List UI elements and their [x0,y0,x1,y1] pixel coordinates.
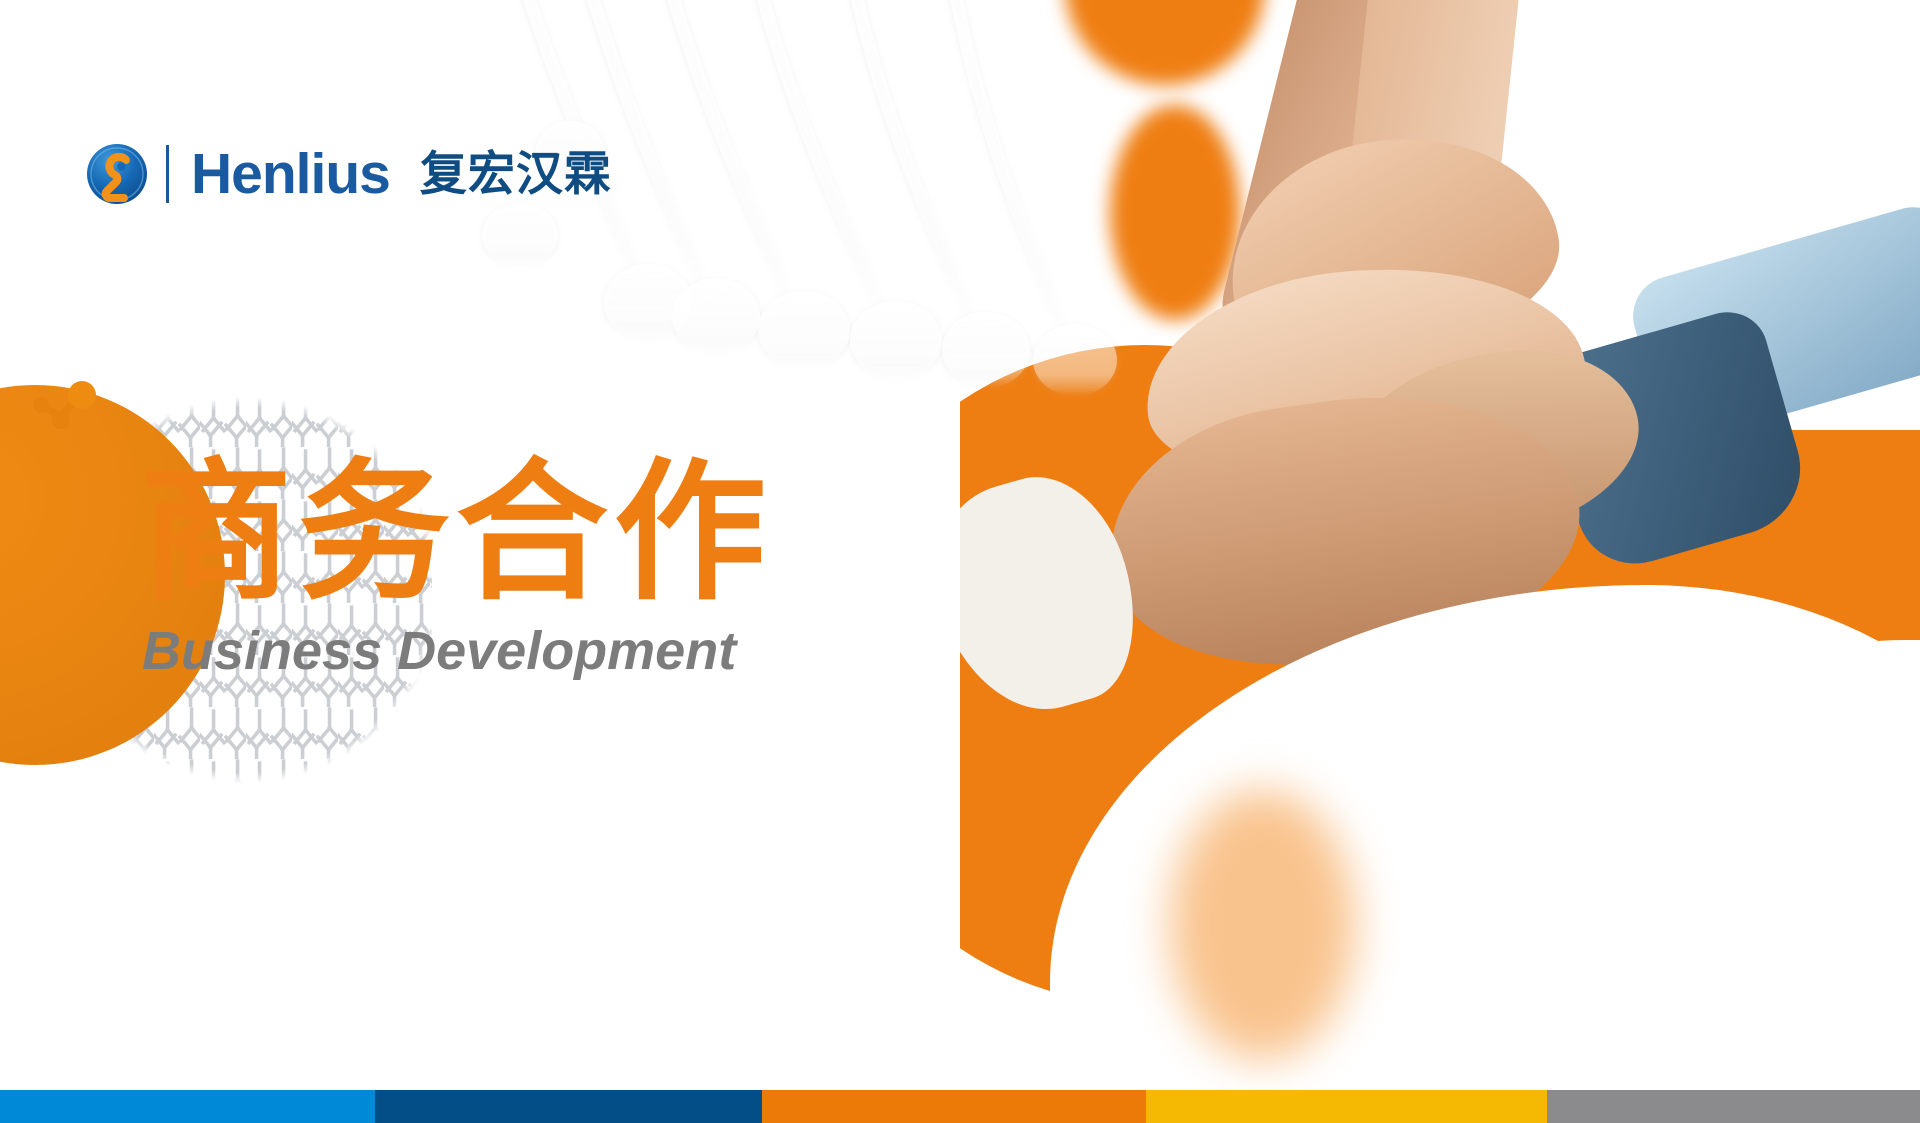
henlius-logo[interactable]: Henlius 复宏汉霖 [86,136,612,212]
molecule-dumbbell-icon [30,380,110,442]
slide-subtitle: Business Development [142,624,772,678]
soft-orange-blob-decoration [1170,790,1355,1060]
stacked-hands-teamwork-photo [960,0,1920,1090]
slide-title: 商务合作 [140,455,772,610]
bottom-bar-segment-orange [762,1090,1146,1123]
bottom-bar-segment-gray [1547,1090,1920,1123]
bottom-bar-segment-dark-blue [375,1090,762,1123]
logo-chinese-name: 复宏汉霖 [420,151,612,198]
title-block: 商务合作 Business Development [140,455,772,678]
bottom-bar-segment-gold [1146,1090,1547,1123]
orange-blob-decoration [1110,105,1240,320]
presentation-slide: Henlius 复宏汉霖 商务合作 Business Development [0,0,1920,1123]
henlius-circle-mark [86,143,148,205]
bottom-bar-segment-light-blue [0,1090,375,1123]
logo-wordmark: Henlius [191,146,390,203]
bottom-color-bar [0,1090,1920,1123]
logo-divider [166,145,169,203]
orange-blob-decoration [1065,0,1265,85]
